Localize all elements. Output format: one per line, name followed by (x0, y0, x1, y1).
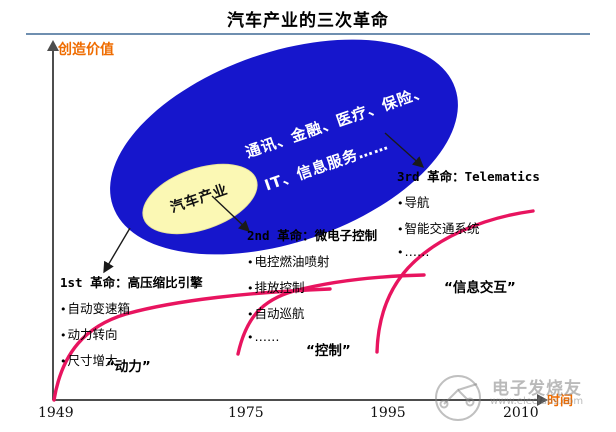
first-revolution-bullet-1: 自动变速箱 (60, 298, 203, 317)
third-revolution-block: 3rd 革命：Telematics 导航 智能交通系统 …… (397, 166, 540, 259)
slide-canvas: 汽车产业的三次革命 创造价值 时间 1949 1975 1995 2010 通讯… (0, 0, 616, 432)
second-revolution-quote: “控制” (306, 339, 351, 359)
second-revolution-bullet-1: 电控燃油喷射 (247, 251, 377, 270)
third-revolution-bullet-1: 导航 (397, 192, 540, 211)
second-revolution-heading: 2nd 革命：微电子控制 (247, 225, 377, 244)
second-revolution-bullet-3: 自动巡航 (247, 303, 377, 322)
third-revolution-bullet-3: …… (397, 244, 540, 259)
third-revolution-quote: “信息交互” (444, 276, 516, 296)
first-revolution-quote: “动力” (106, 355, 151, 375)
arrow-to-third-revolution-icon (385, 133, 423, 167)
arrow-to-second-revolution-icon (212, 196, 249, 231)
first-revolution-bullet-2: 动力转向 (60, 324, 203, 343)
third-revolution-heading: 3rd 革命：Telematics (397, 166, 540, 185)
third-revolution-bullet-2: 智能交通系统 (397, 218, 540, 237)
first-revolution-heading: 1st 革命：高压缩比引擎 (60, 272, 203, 291)
arrow-to-first-revolution-icon (104, 228, 130, 272)
second-revolution-bullet-2: 排放控制 (247, 277, 377, 296)
second-revolution-block: 2nd 革命：微电子控制 电控燃油喷射 排放控制 自动巡航 …… (247, 225, 377, 344)
